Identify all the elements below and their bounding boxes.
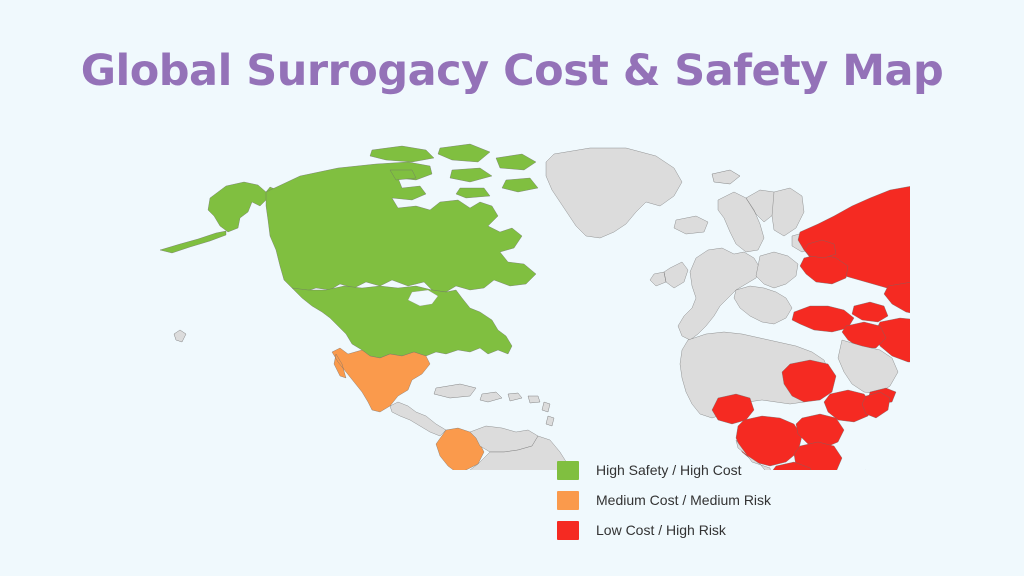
country-finland[interactable] (772, 188, 804, 236)
country-somalia[interactable] (862, 392, 890, 418)
page-title: Global Surrogacy Cost & Safety Map (0, 46, 1024, 96)
central-america[interactable] (390, 402, 446, 436)
scandinavia[interactable] (718, 190, 780, 252)
svalbard (712, 170, 740, 184)
legend-swatch-red-icon (557, 521, 579, 540)
map-legend: High Safety / High Cost Medium Cost / Me… (557, 455, 857, 545)
country-united-kingdom[interactable] (650, 262, 688, 288)
legend-swatch-orange-icon (557, 491, 579, 510)
hawaii-islands (174, 330, 186, 342)
legend-item-low-cost[interactable]: Low Cost / High Risk (557, 515, 857, 545)
legend-item-high-safety[interactable]: High Safety / High Cost (557, 455, 857, 485)
world-map-svg (140, 140, 910, 470)
legend-item-medium-cost[interactable]: Medium Cost / Medium Risk (557, 485, 857, 515)
balkans-italy[interactable] (734, 286, 792, 324)
country-greenland[interactable] (546, 148, 682, 238)
legend-label-low-cost: Low Cost / High Risk (596, 522, 726, 538)
caribbean-islands (434, 384, 554, 426)
caucasus-states[interactable] (852, 302, 888, 322)
slide-canvas: Global Surrogacy Cost & Safety Map (0, 0, 1024, 576)
iberia-france-germany-poland[interactable] (756, 252, 798, 288)
aleutian-islands (160, 231, 226, 253)
country-united-states[interactable] (292, 286, 512, 358)
country-canada[interactable] (266, 162, 536, 292)
country-russia[interactable] (798, 180, 910, 302)
legend-swatch-green-icon (557, 461, 579, 480)
country-mexico[interactable] (332, 348, 430, 412)
legend-label-medium-cost: Medium Cost / Medium Risk (596, 492, 771, 508)
legend-label-high-safety: High Safety / High Cost (596, 462, 742, 478)
world-map-container (140, 140, 910, 470)
country-iceland[interactable] (674, 216, 708, 234)
